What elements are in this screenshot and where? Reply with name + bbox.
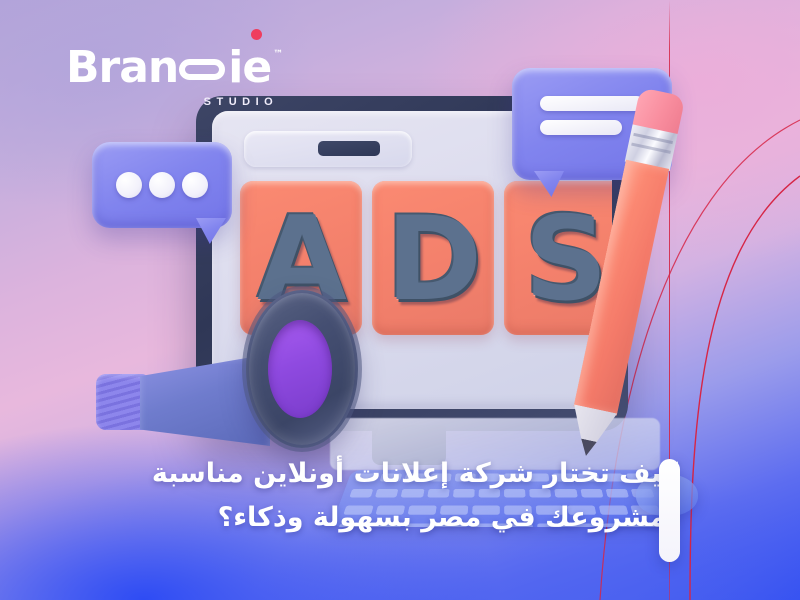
bubble-line (540, 96, 644, 111)
logo-wordmark: Bran ie ™ (66, 46, 282, 90)
browser-address-bar (244, 131, 412, 167)
logo-subtitle: STUDIO (66, 96, 282, 108)
logo-text-prefix: Bran (66, 46, 178, 90)
logo-text-suffix: ie (228, 46, 271, 90)
brand-logo: Bran ie ™ STUDIO (66, 46, 282, 108)
speech-bubble-dots (92, 142, 232, 228)
logo-rounded-d-icon (179, 59, 225, 80)
trademark-symbol: ™ (273, 50, 282, 60)
megaphone-icon (96, 282, 346, 462)
ads-tile: D (372, 181, 494, 335)
bubble-dot (182, 172, 208, 198)
bubble-line (540, 120, 622, 135)
headline: كيف تختار شركة إعلانات أونلاين مناسبة لم… (118, 452, 678, 539)
ads-letter: D (386, 202, 480, 318)
headline-accent-bar (659, 459, 680, 562)
ads-letter: S (524, 202, 606, 318)
megaphone-rim (242, 286, 362, 452)
headline-line-2: لمشروعك في مصر بسهولة وذكاء؟ (118, 496, 678, 540)
bubble-dot (149, 172, 175, 198)
bubble-dot (116, 172, 142, 198)
poster-canvas: A D S (0, 0, 800, 600)
headline-line-1: كيف تختار شركة إعلانات أونلاين مناسبة (118, 452, 678, 496)
